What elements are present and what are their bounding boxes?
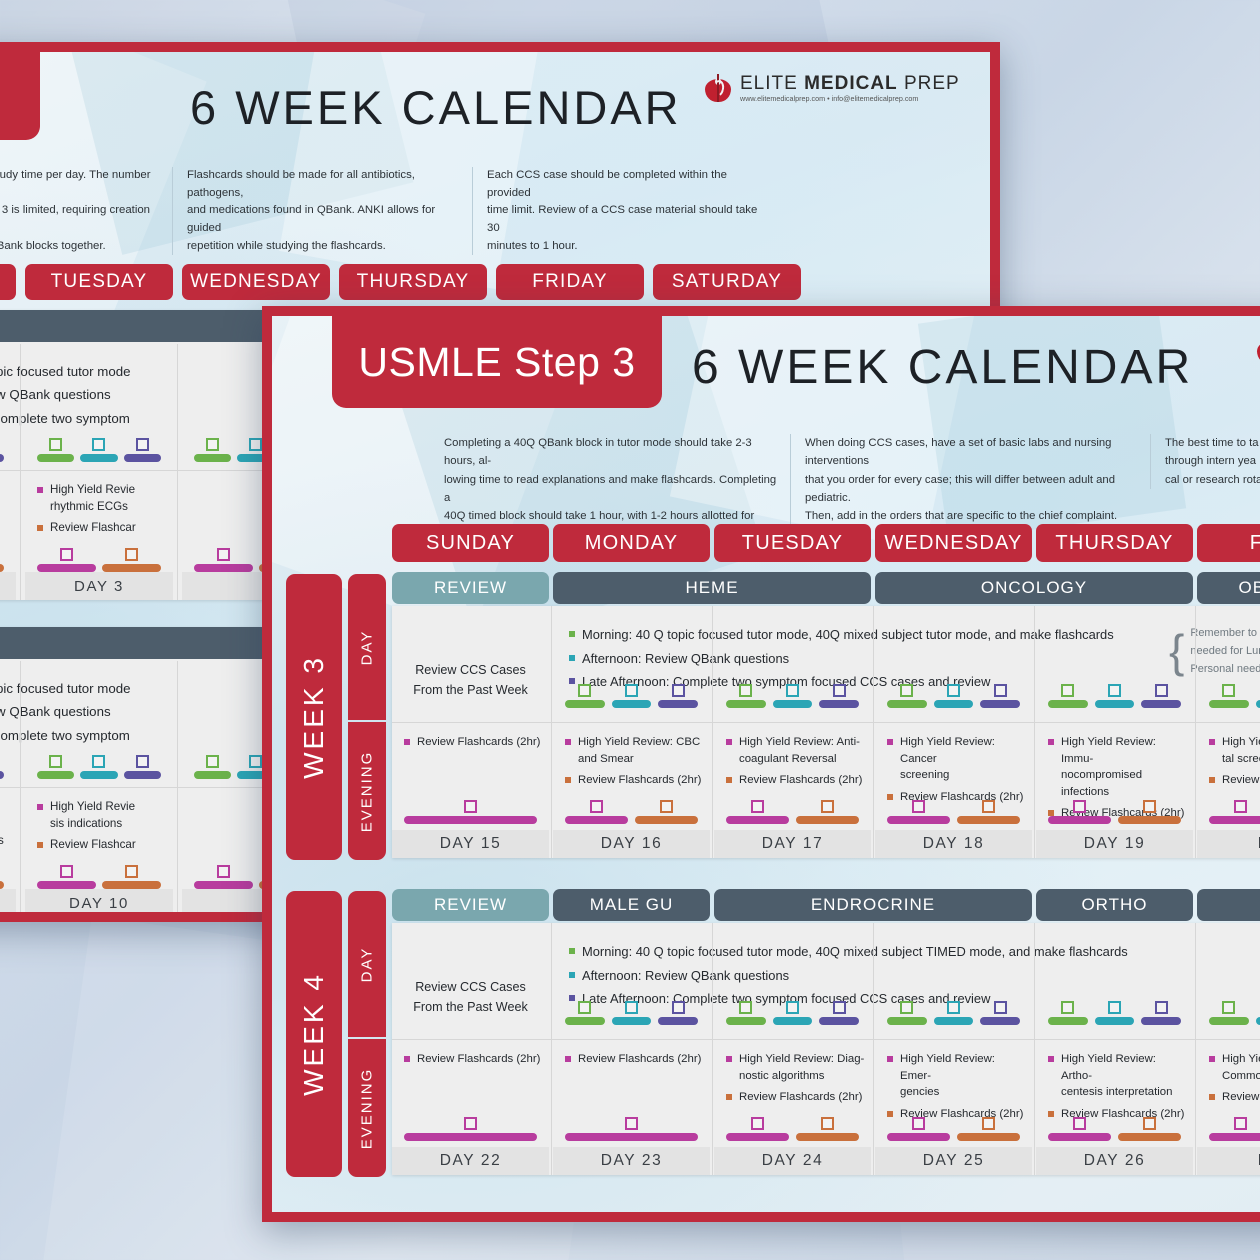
tracker-item[interactable]	[796, 1117, 859, 1141]
bullet-square-icon	[37, 525, 43, 531]
tracker-checkbox-icon[interactable]	[49, 438, 62, 451]
tracker-bar[interactable]	[887, 1133, 950, 1141]
front-intro-col-3: The best time to tathrough intern yeacal…	[1150, 434, 1260, 489]
tracker-group[interactable]	[0, 548, 4, 572]
tracker-group[interactable]	[1048, 800, 1181, 824]
tracker-bar[interactable]	[565, 816, 628, 824]
tracker-bar[interactable]	[37, 771, 74, 779]
tracker-bar[interactable]	[773, 1017, 813, 1025]
tracker-item[interactable]	[796, 800, 859, 824]
tracker-item[interactable]	[1256, 684, 1260, 708]
tracker-checkbox-icon[interactable]	[751, 1117, 764, 1130]
tracker-item[interactable]	[726, 1001, 766, 1025]
tracker-bar[interactable]	[658, 700, 698, 708]
tracker-bar[interactable]	[887, 700, 927, 708]
back-day-header-monday: MONDAY	[0, 264, 16, 300]
tracker-bar[interactable]	[37, 454, 74, 462]
tracker-checkbox-icon[interactable]	[125, 548, 138, 561]
tracker-item[interactable]	[957, 800, 1020, 824]
tracker-bar[interactable]	[819, 700, 859, 708]
tracker-item[interactable]	[726, 800, 789, 824]
tracker-bar[interactable]	[887, 816, 950, 824]
tracker-item[interactable]	[612, 684, 652, 708]
tracker-group[interactable]	[1048, 1001, 1181, 1025]
tracker-checkbox-icon[interactable]	[206, 438, 219, 451]
tracker-item[interactable]	[887, 684, 927, 708]
tracker-bar[interactable]	[1118, 1133, 1181, 1141]
tracker-checkbox-icon[interactable]	[136, 438, 149, 451]
tracker-checkbox-icon[interactable]	[464, 1117, 477, 1130]
tracker-group[interactable]	[726, 800, 859, 824]
tracker-checkbox-icon[interactable]	[900, 684, 913, 697]
tracker-bar[interactable]	[887, 1017, 927, 1025]
front-evening-bullet: High Yield Review: Emer-gencies	[887, 1051, 1026, 1101]
back-evening-bullets: High Yield Revierhythmic ECGsReview Flas…	[37, 482, 169, 540]
tracker-group[interactable]	[1209, 684, 1260, 708]
tracker-group[interactable]	[1048, 1117, 1181, 1141]
front-evening-bullet: High Yield Review: Anti-coagulant Revers…	[726, 734, 865, 767]
tracker-bar[interactable]	[37, 881, 96, 889]
tracker-bar[interactable]	[773, 700, 813, 708]
tracker-group[interactable]	[37, 865, 161, 889]
tracker-checkbox-icon[interactable]	[464, 800, 477, 813]
tracker-item[interactable]	[819, 684, 859, 708]
tracker-checkbox-icon[interactable]	[578, 684, 591, 697]
tracker-bar[interactable]	[0, 454, 4, 462]
back-evening-bullet: High Yield Review: Elec-trolyte Derangem…	[0, 799, 12, 849]
tracker-item[interactable]	[0, 438, 4, 462]
back-evening-bullet: Review Flashcar	[37, 520, 169, 537]
front-subject-bar-endrocrine: ENDROCRINE	[714, 889, 1032, 921]
back-day-label: DAY 3	[25, 572, 173, 600]
tracker-bar[interactable]	[726, 1017, 766, 1025]
bullet-square-icon	[887, 739, 893, 745]
tracker-item[interactable]	[124, 438, 161, 462]
tracker-checkbox-icon[interactable]	[947, 1001, 960, 1014]
front-evening-bullets-2: High Yield Review: Anti-coagulant Revers…	[726, 734, 865, 794]
tracker-checkbox-icon[interactable]	[625, 1117, 638, 1130]
bullet-square-icon	[37, 842, 43, 848]
tracker-checkbox-icon[interactable]	[1073, 1117, 1086, 1130]
tracker-bar[interactable]	[565, 700, 605, 708]
tracker-bar[interactable]	[0, 881, 4, 889]
tracker-bar[interactable]	[957, 816, 1020, 824]
tracker-checkbox-icon[interactable]	[590, 800, 603, 813]
front-slot-tab-evening-2[interactable]: EVENING	[348, 1039, 386, 1177]
tracker-bar[interactable]	[102, 881, 161, 889]
tracker-item[interactable]	[934, 1001, 974, 1025]
tracker-checkbox-icon[interactable]	[833, 684, 846, 697]
tracker-group[interactable]	[37, 438, 161, 462]
tracker-item[interactable]	[773, 684, 813, 708]
front-day-header-0: SUNDAY	[392, 524, 549, 562]
tracker-checkbox-icon[interactable]	[739, 1001, 752, 1014]
tracker-checkbox-icon[interactable]	[206, 755, 219, 768]
tracker-item[interactable]	[612, 1001, 652, 1025]
tracker-checkbox-icon[interactable]	[249, 438, 262, 451]
bullet-square-icon	[887, 1111, 893, 1117]
tracker-item[interactable]	[37, 438, 74, 462]
tracker-checkbox-icon[interactable]	[672, 1001, 685, 1014]
tracker-group[interactable]	[565, 1117, 698, 1141]
tracker-checkbox-icon[interactable]	[660, 800, 673, 813]
tracker-checkbox-icon[interactable]	[1108, 1001, 1121, 1014]
back-evening-bullet: High Yield Revierhythmic ECGs	[37, 482, 169, 516]
tracker-bar[interactable]	[1141, 700, 1181, 708]
tracker-checkbox-icon[interactable]	[60, 865, 73, 878]
tracker-group[interactable]	[1209, 800, 1260, 824]
tracker-checkbox-icon[interactable]	[92, 755, 105, 768]
tracker-checkbox-icon[interactable]	[821, 1117, 834, 1130]
tracker-group[interactable]	[1209, 1001, 1260, 1025]
tracker-bar[interactable]	[1209, 1017, 1249, 1025]
tracker-bar[interactable]	[957, 1133, 1020, 1141]
tracker-checkbox-icon[interactable]	[994, 1001, 1007, 1014]
tracker-bar[interactable]	[0, 564, 4, 572]
tracker-bar[interactable]	[1048, 1133, 1111, 1141]
front-col-divider	[873, 606, 874, 858]
tracker-bar[interactable]	[1209, 700, 1249, 708]
tracker-checkbox-icon[interactable]	[60, 548, 73, 561]
front-slot-tab-day-1[interactable]: DAY	[348, 574, 386, 720]
front-slot-tab-day-2[interactable]: DAY	[348, 891, 386, 1037]
tracker-checkbox-icon[interactable]	[947, 684, 960, 697]
tracker-checkbox-icon[interactable]	[912, 1117, 925, 1130]
tracker-checkbox-icon[interactable]	[217, 548, 230, 561]
tracker-item[interactable]	[0, 755, 4, 779]
tracker-bar[interactable]	[1256, 700, 1260, 708]
tracker-item[interactable]	[1141, 684, 1181, 708]
tracker-item[interactable]	[1141, 1001, 1181, 1025]
tracker-item[interactable]	[1048, 800, 1111, 824]
tracker-checkbox-icon[interactable]	[912, 800, 925, 813]
tracker-checkbox-icon[interactable]	[900, 1001, 913, 1014]
tracker-bar[interactable]	[796, 816, 859, 824]
tracker-item[interactable]	[887, 800, 950, 824]
tracker-bar[interactable]	[1256, 1017, 1260, 1025]
tracker-checkbox-icon[interactable]	[982, 1117, 995, 1130]
tracker-checkbox-icon[interactable]	[786, 1001, 799, 1014]
tracker-group[interactable]	[887, 1001, 1020, 1025]
front-evening-bullets-3: High Yield Review: Emer-genciesReview Fl…	[887, 1051, 1026, 1127]
tracker-item[interactable]	[404, 1117, 537, 1141]
tracker-item[interactable]	[102, 865, 161, 889]
front-day-label-2: DAY 24	[714, 1147, 871, 1175]
front-poster-canvas: USMLE Step 36 WEEK CALENDARELITE MEDICAL…	[272, 316, 1260, 1212]
front-subject-bar-heme: HEME	[553, 572, 871, 604]
tracker-checkbox-icon[interactable]	[1061, 1001, 1074, 1014]
tracker-item[interactable]	[1118, 800, 1181, 824]
tracker-bar[interactable]	[980, 700, 1020, 708]
tracker-checkbox-icon[interactable]	[833, 1001, 846, 1014]
tracker-group[interactable]	[37, 755, 161, 779]
tracker-checkbox-icon[interactable]	[625, 1001, 638, 1014]
tracker-checkbox-icon[interactable]	[1234, 800, 1247, 813]
front-day-label-1: DAY 16	[553, 830, 710, 858]
bullet-square-icon	[1209, 739, 1215, 745]
tracker-checkbox-icon[interactable]	[751, 800, 764, 813]
tracker-checkbox-icon[interactable]	[994, 684, 1007, 697]
tracker-item[interactable]	[1048, 1117, 1111, 1141]
front-col-divider	[712, 923, 713, 1175]
front-day-header-1: MONDAY	[553, 524, 710, 562]
tracker-bar[interactable]	[1095, 700, 1135, 708]
tracker-bar[interactable]	[194, 771, 231, 779]
tracker-item[interactable]	[726, 1117, 789, 1141]
tracker-checkbox-icon[interactable]	[1143, 800, 1156, 813]
front-note-text: Remember to take breaneeded for Lunch, D…	[1190, 624, 1260, 678]
tracker-item[interactable]	[565, 684, 605, 708]
front-intro-text-3: The best time to tathrough intern yeacal…	[1165, 434, 1260, 489]
tracker-group[interactable]	[726, 1117, 859, 1141]
bullet-square-icon	[726, 1056, 732, 1062]
tracker-bar[interactable]	[819, 1017, 859, 1025]
tracker-bar[interactable]	[726, 1133, 789, 1141]
tracker-group[interactable]	[726, 684, 859, 708]
tracker-checkbox-icon[interactable]	[136, 755, 149, 768]
front-evening-bullet: Review Flashcards (2hr)	[404, 1051, 543, 1068]
tracker-bar[interactable]	[194, 564, 253, 572]
bullet-square-icon	[726, 739, 732, 745]
tracker-checkbox-icon[interactable]	[92, 438, 105, 451]
front-subject-bar-male-gu: MALE GU	[553, 889, 710, 921]
tracker-item[interactable]	[194, 438, 231, 462]
tracker-item[interactable]	[565, 1001, 605, 1025]
tracker-item[interactable]	[1095, 684, 1135, 708]
tracker-item[interactable]	[726, 684, 766, 708]
front-evening-bullet: Review Flash	[1209, 772, 1260, 789]
front-evening-bullet: High Yield Review: Cancerscreening	[887, 734, 1026, 784]
tracker-bar[interactable]	[796, 1133, 859, 1141]
tracker-bar[interactable]	[1095, 1017, 1135, 1025]
tracker-group[interactable]	[1209, 1117, 1260, 1141]
tracker-bar[interactable]	[565, 1017, 605, 1025]
tracker-bar[interactable]	[1209, 1133, 1260, 1141]
tracker-bar[interactable]	[1118, 816, 1181, 824]
tracker-group[interactable]	[565, 1001, 698, 1025]
tracker-bar[interactable]	[404, 1133, 537, 1141]
tracker-bar[interactable]	[80, 454, 117, 462]
back-col-divider	[177, 344, 178, 600]
tracker-item[interactable]	[194, 755, 231, 779]
tracker-group[interactable]	[887, 684, 1020, 708]
tracker-bar[interactable]	[726, 816, 789, 824]
tracker-bar[interactable]	[726, 700, 766, 708]
tracker-checkbox-icon[interactable]	[217, 865, 230, 878]
front-day-label-4: DAY 19	[1036, 830, 1193, 858]
tracker-item[interactable]	[102, 548, 161, 572]
back-evening-bullet: Review Flashcar	[37, 837, 169, 854]
back-intro-col-1: requires 8+ hours of study time per day.…	[0, 167, 172, 255]
tracker-bar[interactable]	[194, 881, 253, 889]
front-row-divider	[392, 722, 1260, 723]
tracker-bar[interactable]	[0, 771, 4, 779]
tracker-item[interactable]	[819, 1001, 859, 1025]
front-col-divider	[712, 606, 713, 858]
bullet-square-icon	[726, 1094, 732, 1100]
logo-word-elite: ELITE	[740, 73, 798, 94]
tracker-checkbox-icon[interactable]	[249, 755, 262, 768]
tracker-bar[interactable]	[980, 1017, 1020, 1025]
tracker-group[interactable]	[0, 755, 4, 779]
tracker-bar[interactable]	[404, 816, 537, 824]
front-slot-label-evening: EVENING	[359, 1067, 376, 1149]
tracker-group[interactable]	[0, 438, 4, 462]
front-evening-bullets-1: High Yield Review: CBCand SmearReview Fl…	[565, 734, 704, 794]
tracker-bar[interactable]	[102, 564, 161, 572]
front-evening-bullet: High Yield Review: Artho-centesis interp…	[1048, 1051, 1187, 1101]
front-subject-bar-obstet: OBSTET	[1197, 572, 1260, 604]
tracker-group[interactable]	[887, 1117, 1020, 1141]
tracker-item[interactable]	[980, 684, 1020, 708]
tracker-item[interactable]	[37, 548, 96, 572]
tracker-group[interactable]	[404, 1117, 537, 1141]
tracker-group[interactable]	[0, 865, 4, 889]
tracker-checkbox-icon[interactable]	[672, 684, 685, 697]
tracker-bar[interactable]	[1209, 816, 1260, 824]
tracker-checkbox-icon[interactable]	[49, 755, 62, 768]
bullet-square-icon	[1048, 1111, 1054, 1117]
tracker-checkbox-icon[interactable]	[786, 684, 799, 697]
tracker-checkbox-icon[interactable]	[625, 684, 638, 697]
tracker-checkbox-icon[interactable]	[739, 684, 752, 697]
tracker-checkbox-icon[interactable]	[982, 800, 995, 813]
front-calendar-poster[interactable]: USMLE Step 36 WEEK CALENDARELITE MEDICAL…	[262, 306, 1260, 1222]
front-col-divider	[551, 923, 552, 1175]
tracker-item[interactable]	[1048, 684, 1088, 708]
back-day-header-saturday: SATURDAY	[653, 264, 801, 300]
tracker-checkbox-icon[interactable]	[821, 800, 834, 813]
tracker-checkbox-icon[interactable]	[1155, 1001, 1168, 1014]
tracker-item[interactable]	[887, 1001, 927, 1025]
tracker-item[interactable]	[1209, 800, 1260, 824]
back-day-header-friday: FRIDAY	[496, 264, 644, 300]
front-evening-bullets-3: High Yield Review: CancerscreeningReview…	[887, 734, 1026, 810]
tracker-bar[interactable]	[565, 1133, 698, 1141]
tracker-item[interactable]	[0, 865, 4, 889]
front-calendar-title: 6 WEEK CALENDAR	[692, 340, 1193, 395]
tracker-bar[interactable]	[80, 771, 117, 779]
front-evening-bullet: Review Flashcards (2hr)	[404, 734, 543, 751]
front-day-label-3: DAY 25	[875, 1147, 1032, 1175]
back-intro-text-3: Each CCS case should be completed within…	[487, 167, 758, 255]
tracker-checkbox-icon[interactable]	[1222, 1001, 1235, 1014]
tracker-bar[interactable]	[612, 700, 652, 708]
tracker-item[interactable]	[37, 755, 74, 779]
bullet-square-icon	[565, 739, 571, 745]
front-col-divider	[1195, 606, 1196, 858]
tracker-bar[interactable]	[1048, 816, 1111, 824]
front-intro-col-2: When doing CCS cases, have a set of basi…	[790, 434, 1138, 525]
tracker-item[interactable]	[1095, 1001, 1135, 1025]
tracker-bar[interactable]	[1048, 1017, 1088, 1025]
tracker-group[interactable]	[565, 800, 698, 824]
tracker-bar[interactable]	[612, 1017, 652, 1025]
tracker-item[interactable]	[635, 800, 698, 824]
tracker-checkbox-icon[interactable]	[1073, 800, 1086, 813]
tracker-group[interactable]	[404, 800, 537, 824]
front-day-label-3: DAY 18	[875, 830, 1032, 858]
tracker-bar[interactable]	[1141, 1017, 1181, 1025]
tracker-group[interactable]	[726, 1001, 859, 1025]
front-col-divider	[1034, 923, 1035, 1175]
tracker-checkbox-icon[interactable]	[1143, 1117, 1156, 1130]
tracker-item[interactable]	[565, 800, 628, 824]
tracker-bar[interactable]	[124, 771, 161, 779]
tracker-item[interactable]	[1209, 684, 1249, 708]
tracker-checkbox-icon[interactable]	[578, 1001, 591, 1014]
tracker-item[interactable]	[934, 684, 974, 708]
tracker-bar[interactable]	[194, 454, 231, 462]
tracker-group[interactable]	[37, 548, 161, 572]
tracker-group[interactable]	[565, 684, 698, 708]
tracker-item[interactable]	[957, 1117, 1020, 1141]
tracker-item[interactable]	[194, 548, 253, 572]
back-intro-text-2: Flashcards should be made for all antibi…	[187, 167, 458, 255]
tracker-item[interactable]	[194, 865, 253, 889]
tracker-item[interactable]	[1209, 1117, 1260, 1141]
tracker-checkbox-icon[interactable]	[1234, 1117, 1247, 1130]
tracker-bar[interactable]	[635, 816, 698, 824]
front-day-label-2: DAY 17	[714, 830, 871, 858]
tracker-bar[interactable]	[37, 564, 96, 572]
tracker-bar[interactable]	[658, 1017, 698, 1025]
back-day-header-thursday: THURSDAY	[339, 264, 487, 300]
tracker-item[interactable]	[887, 1117, 950, 1141]
tracker-item[interactable]	[404, 800, 537, 824]
tracker-item[interactable]	[37, 865, 96, 889]
tracker-item[interactable]	[658, 1001, 698, 1025]
back-col-divider	[20, 344, 21, 600]
tracker-item[interactable]	[980, 1001, 1020, 1025]
tracker-group[interactable]	[887, 800, 1020, 824]
tracker-item[interactable]	[80, 755, 117, 779]
tracker-item[interactable]	[1256, 1001, 1260, 1025]
tracker-checkbox-icon[interactable]	[1155, 684, 1168, 697]
tracker-checkbox-icon[interactable]	[125, 865, 138, 878]
tracker-item[interactable]	[658, 684, 698, 708]
tracker-item[interactable]	[1048, 1001, 1088, 1025]
front-evening-bullet: Review Flashcards (2hr)	[565, 772, 704, 789]
front-review-cell-text-1: Review CCS CasesFrom the Past Week	[392, 660, 549, 700]
tracker-item[interactable]	[565, 1117, 698, 1141]
tracker-group[interactable]	[1048, 684, 1181, 708]
back-intro-col-2: Flashcards should be made for all antibi…	[172, 167, 472, 255]
tracker-item[interactable]	[1118, 1117, 1181, 1141]
tracker-item[interactable]	[773, 1001, 813, 1025]
tracker-checkbox-icon[interactable]	[1222, 684, 1235, 697]
bullet-square-icon	[1048, 739, 1054, 745]
tracker-checkbox-icon[interactable]	[1108, 684, 1121, 697]
tracker-item[interactable]	[124, 755, 161, 779]
front-evening-bullet: High Yield Retal screening	[1209, 734, 1260, 767]
front-day-label-0: DAY 22	[392, 1147, 549, 1175]
logo-contact: www.elitemedicalprep.com • info@elitemed…	[740, 95, 960, 102]
tracker-bar[interactable]	[124, 454, 161, 462]
tracker-item[interactable]	[1209, 1001, 1249, 1025]
bullet-square-icon	[887, 794, 893, 800]
bullet-square-icon	[569, 655, 575, 661]
back-day-header-wednesday: WEDNESDAY	[182, 264, 330, 300]
tracker-item[interactable]	[0, 548, 4, 572]
front-day-label-5: DAY	[1197, 1147, 1260, 1175]
tracker-checkbox-icon[interactable]	[1061, 684, 1074, 697]
tracker-bar[interactable]	[1048, 700, 1088, 708]
tracker-bar[interactable]	[934, 700, 974, 708]
front-slot-tab-evening-1[interactable]: EVENING	[348, 722, 386, 860]
tracker-bar[interactable]	[934, 1017, 974, 1025]
tracker-item[interactable]	[80, 438, 117, 462]
